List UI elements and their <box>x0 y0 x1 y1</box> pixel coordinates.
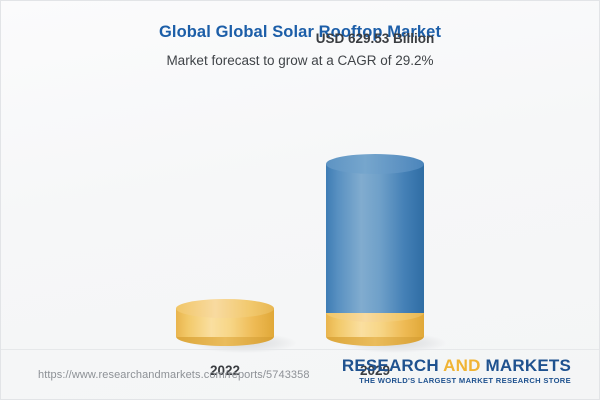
logo-word-and: AND <box>439 356 486 375</box>
logo-word-research: RESEARCH <box>342 356 439 375</box>
source-url[interactable]: https://www.researchandmarkets.com/repor… <box>38 369 310 381</box>
bar-cylinder-2022[interactable] <box>176 298 274 346</box>
logo-wordmark: RESEARCH AND MARKETS <box>342 356 571 375</box>
bar-group-2029: USD 629.53 Billion 2029 <box>326 41 424 346</box>
footer-divider <box>1 349 599 350</box>
research-and-markets-logo[interactable]: RESEARCH AND MARKETS THE WORLD'S LARGEST… <box>342 356 571 386</box>
logo-tagline: THE WORLD'S LARGEST MARKET RESEARCH STOR… <box>342 376 571 386</box>
bar-group-2022: USD 104.94 Billion 2022 <box>176 41 274 346</box>
chart-plot-area: USD 104.94 Billion 2022 USD 629.53 Billi… <box>1 1 600 346</box>
bar-cylinder-2029[interactable] <box>326 154 424 346</box>
cylinder-top-ellipse-2022 <box>176 299 274 318</box>
infographic-card: Global Global Solar Rooftop Market Marke… <box>0 0 600 400</box>
cylinder-top-ellipse-2029 <box>326 154 424 174</box>
logo-word-markets: MARKETS <box>486 356 571 375</box>
bar-value-label-2029: USD 629.53 Billion <box>316 31 435 46</box>
cylinder-body-2029 <box>326 164 424 313</box>
